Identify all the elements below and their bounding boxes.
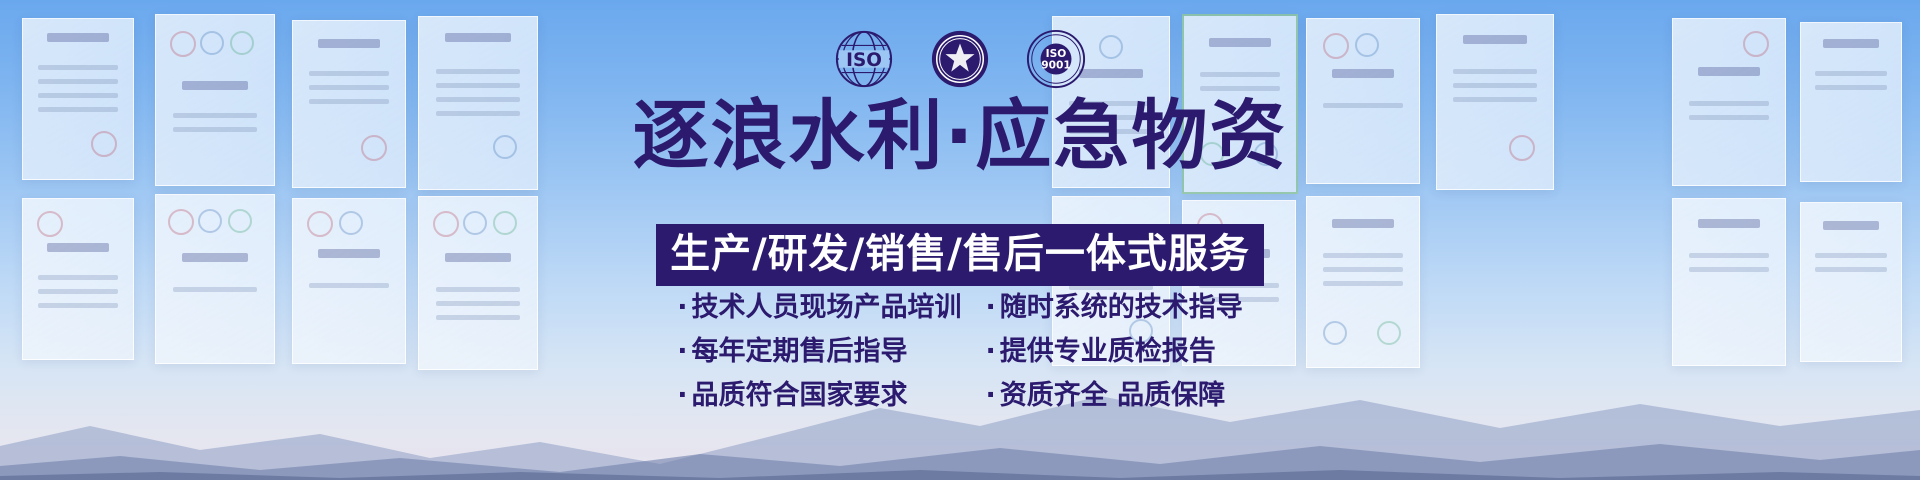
bullet-text: 随时系统的技术指导 <box>1000 292 1243 323</box>
banner-subtitle-wrap: 生产/研发/销售/售后一体式服务 <box>0 224 1920 286</box>
bullet-item: ·品质符合国家要求 <box>677 382 961 409</box>
bullet-dot-icon: · <box>677 380 687 411</box>
bullet-dot-icon: · <box>677 292 687 323</box>
bullet-item: ·每年定期售后指导 <box>677 338 961 365</box>
bullet-item: ·技术人员现场产品培训 <box>677 294 961 321</box>
bullet-dot-icon: · <box>986 380 996 411</box>
bullet-text: 技术人员现场产品培训 <box>692 292 962 323</box>
banner-subtitle-bar: 生产/研发/销售/售后一体式服务 <box>656 224 1264 286</box>
banner-title: 逐浪水利·应急物资 <box>0 98 1920 174</box>
iso-9001-badge-label-bottom: 9001 <box>1041 59 1071 72</box>
bullet-item: ·随时系统的技术指导 <box>986 294 1243 321</box>
bullet-item: ·资质齐全 品质保障 <box>986 382 1243 409</box>
service-bullet-list: ·技术人员现场产品培训 ·随时系统的技术指导 ·每年定期售后指导 ·提供专业质检… <box>0 294 1920 409</box>
promo-banner: ISO ISO 9001 逐浪水利·应急物资 生产/研发/销售/售后一体式服务 <box>0 0 1920 480</box>
bullet-dot-icon: · <box>986 292 996 323</box>
bullet-dot-icon: · <box>677 336 687 367</box>
iso-globe-badge-label: ISO <box>846 50 882 71</box>
quality-seal-badge <box>929 28 991 90</box>
banner-content: ISO ISO 9001 逐浪水利·应急物资 生产/研发/销售/售后一体式服务 <box>0 0 1920 480</box>
bullet-item: ·提供专业质检报告 <box>986 338 1243 365</box>
bullet-text: 资质齐全 品质保障 <box>1000 380 1225 411</box>
bullet-text: 提供专业质检报告 <box>1000 336 1216 367</box>
iso-globe-badge: ISO <box>833 28 895 90</box>
bullet-text: 品质符合国家要求 <box>692 380 908 411</box>
bullet-dot-icon: · <box>986 336 996 367</box>
bullet-text: 每年定期售后指导 <box>692 336 908 367</box>
certification-badges: ISO ISO 9001 <box>0 28 1920 90</box>
iso-9001-badge: ISO 9001 <box>1025 28 1087 90</box>
